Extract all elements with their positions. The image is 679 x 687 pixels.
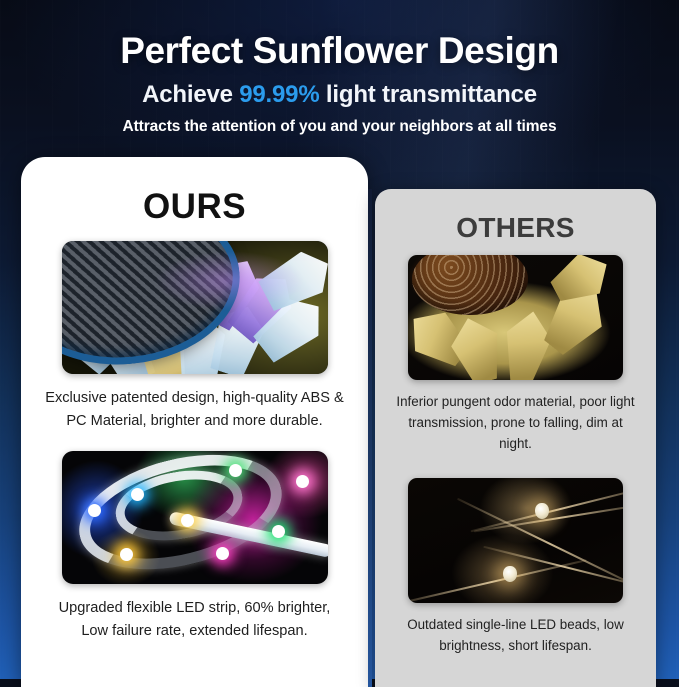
crystal-artwork xyxy=(62,241,328,374)
sunflower-crystal-light-photo xyxy=(62,241,328,374)
panel-divider xyxy=(368,189,372,687)
seed-head xyxy=(412,255,528,315)
led-strip-artwork xyxy=(62,451,328,584)
rgb-led-strip-photo xyxy=(62,451,328,584)
others-caption-2: Outdated single-line LED beads, low brig… xyxy=(396,614,636,656)
subtitle-suffix: light transmittance xyxy=(319,81,536,108)
led-dot xyxy=(120,548,133,561)
led-bead xyxy=(503,566,517,582)
led-bead xyxy=(535,503,549,519)
header: Perfect Sunflower Design Achieve 99.99% … xyxy=(0,0,679,136)
single-line-led-beads-photo xyxy=(408,478,623,603)
ours-caption-1: Exclusive patented design, high-quality … xyxy=(45,387,345,433)
led-dot xyxy=(131,488,144,501)
yellow-sunflower-photo xyxy=(408,255,623,380)
tagline: Attracts the attention of you and your n… xyxy=(0,118,679,136)
others-caption-1: Inferior pungent odor material, poor lig… xyxy=(396,391,636,454)
others-card: OTHERS Inferior pungent odor material, p… xyxy=(375,189,656,687)
page-title: Perfect Sunflower Design xyxy=(0,30,679,72)
ours-title: OURS xyxy=(21,187,368,227)
led-dot xyxy=(216,547,229,560)
subtitle: Achieve 99.99% light transmittance xyxy=(0,81,679,109)
beads-artwork xyxy=(408,478,623,603)
ours-card: OURS Exclusive patented design, high-qua… xyxy=(21,157,368,687)
flower-artwork xyxy=(408,255,623,380)
others-title: OTHERS xyxy=(375,212,656,244)
led-dot xyxy=(181,514,194,527)
subtitle-prefix: Achieve xyxy=(142,81,239,108)
led-dot xyxy=(296,475,309,488)
transmittance-value: 99.99% xyxy=(239,81,319,108)
ours-caption-2: Upgraded flexible LED strip, 60% brighte… xyxy=(45,597,345,643)
